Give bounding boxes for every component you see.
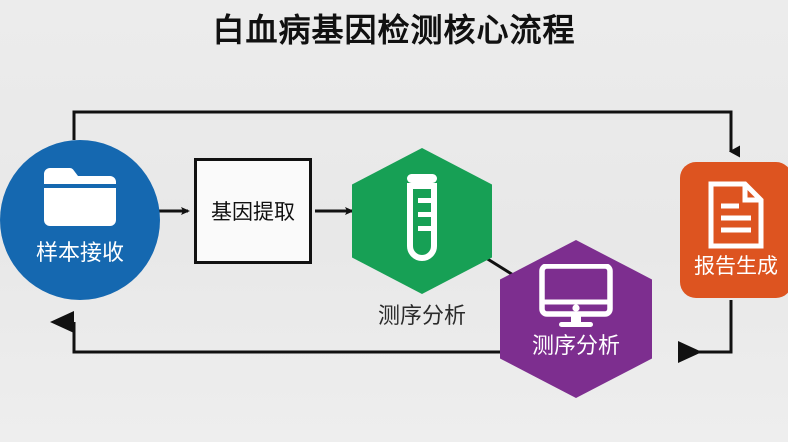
node-report-generation[interactable]: 报告生成 — [680, 162, 788, 298]
node-label-report-generation: 报告生成 — [680, 250, 788, 280]
node-sample-receiving[interactable]: 样本接收 — [0, 140, 160, 300]
folder-icon — [42, 166, 118, 228]
connector-sample-to-report-top — [74, 112, 731, 152]
node-label-gene-extraction: 基因提取 — [194, 196, 312, 226]
flowchart-canvas: 白血病基因检测核心流程 — [0, 0, 788, 442]
node-label-sample-receiving: 样本接收 — [0, 235, 160, 267]
node-sequencing-analysis-green[interactable]: 测序分析 — [352, 148, 492, 294]
document-icon — [707, 180, 765, 250]
monitor-icon — [539, 264, 613, 328]
node-gene-extraction[interactable]: 基因提取 — [194, 158, 312, 264]
node-label-sequencing-analysis-green: 测序分析 — [352, 298, 492, 330]
node-label-sequencing-analysis-purple: 测序分析 — [500, 328, 652, 360]
node-sequencing-analysis-purple[interactable]: 测序分析 — [500, 240, 652, 398]
test-tube-icon — [396, 172, 448, 268]
connector-report-to-purple-bottom — [678, 300, 731, 352]
